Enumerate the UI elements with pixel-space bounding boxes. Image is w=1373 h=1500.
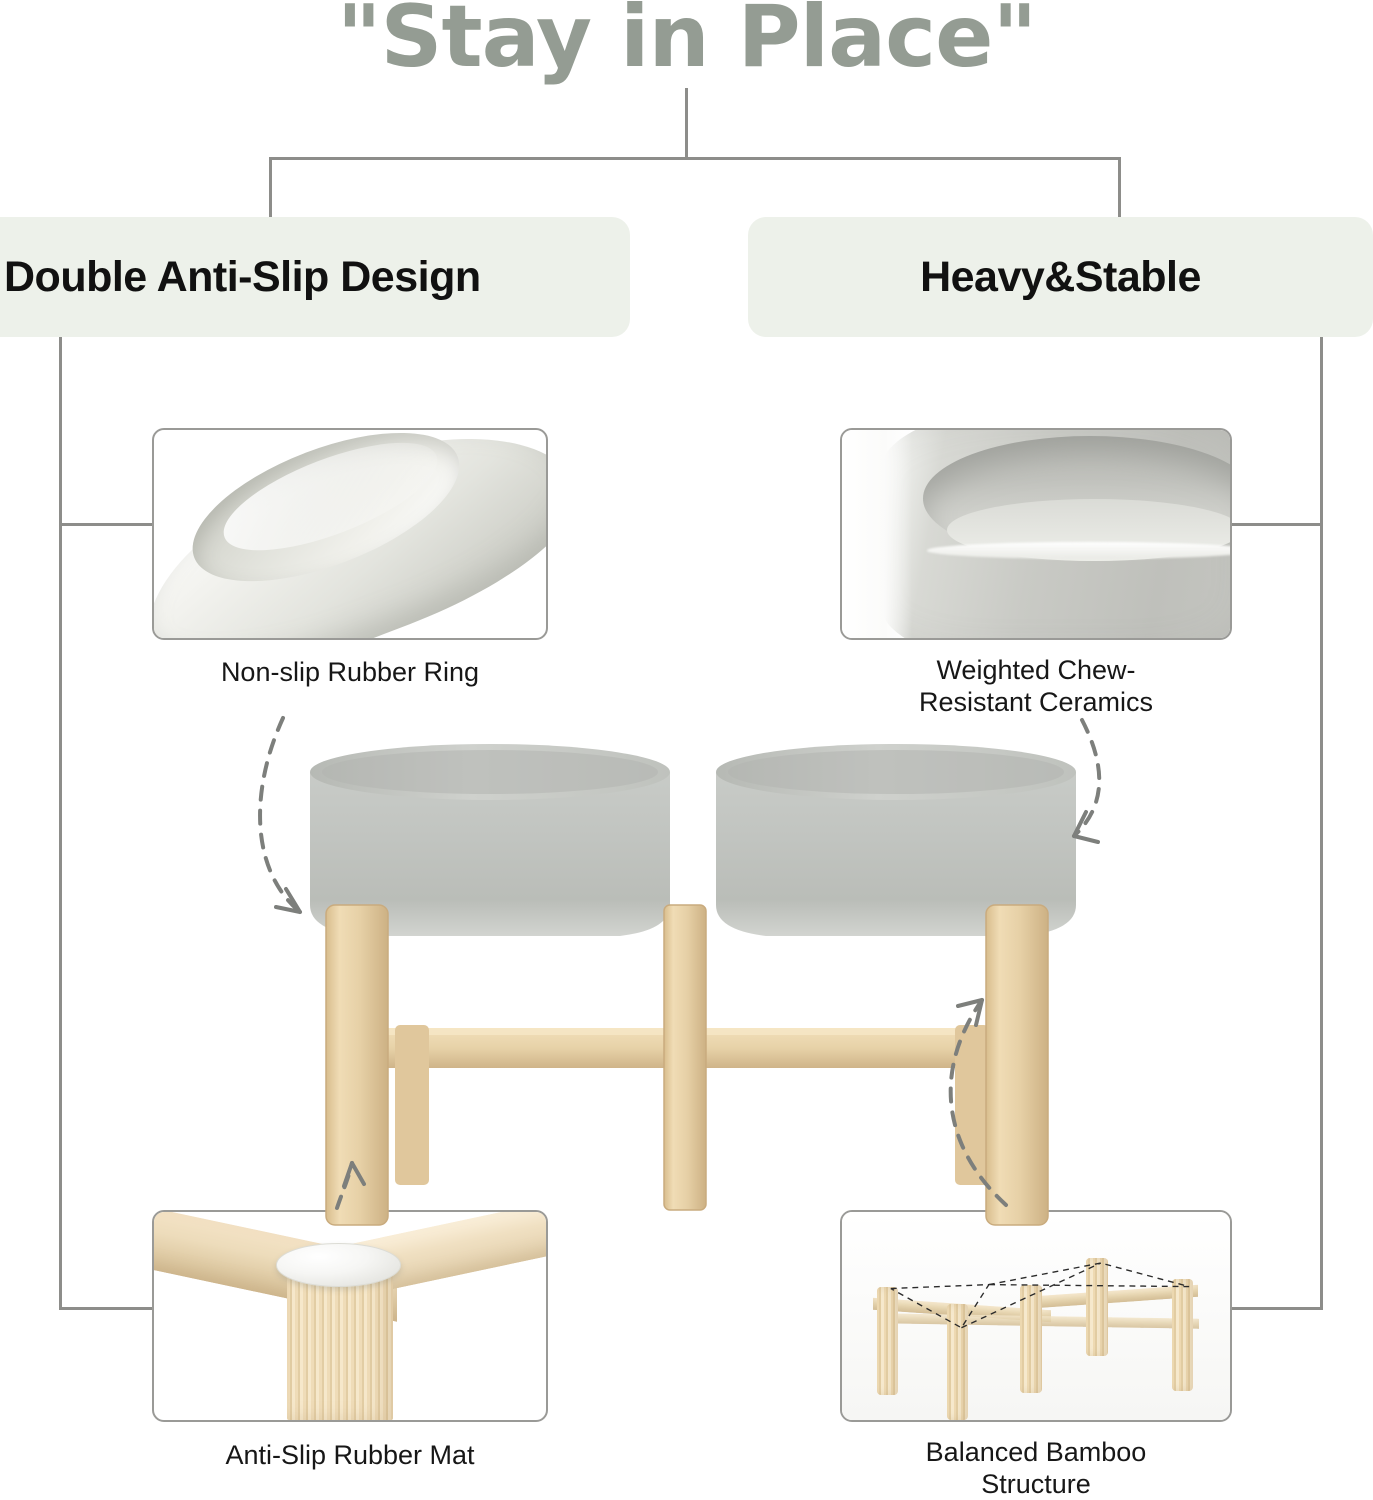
feature-caption-non-slip-rubber-ring: Non-slip Rubber Ring bbox=[152, 657, 548, 689]
feature-caption-weighted-chew-resistant-ceramics: Weighted Chew- Resistant Ceramics bbox=[840, 655, 1232, 719]
category-label-text: Double Anti-Slip Design bbox=[0, 253, 630, 302]
callout-arrow-balanced-bamboo-structure bbox=[951, 1000, 1006, 1205]
category-label-text: Heavy&Stable bbox=[748, 253, 1373, 302]
connector-left-bottom-branch bbox=[59, 1307, 154, 1310]
connector-title-stem bbox=[685, 88, 688, 160]
connector-top-right-drop bbox=[1118, 157, 1121, 219]
connector-right-top-branch bbox=[1228, 523, 1323, 526]
page-title: "Stay in Place" bbox=[0, 0, 1373, 82]
callout-arrow-anti-slip-rubber-mat bbox=[337, 1163, 352, 1208]
connector-top-bar bbox=[269, 157, 1121, 160]
caption-line-2: Resistant Ceramics bbox=[919, 687, 1153, 717]
category-label-heavy-and-stable[interactable]: Heavy&Stable bbox=[748, 217, 1373, 337]
connector-left-spine bbox=[59, 337, 62, 1310]
connector-top-left-drop bbox=[269, 157, 272, 219]
caption-line-1: Weighted Chew- bbox=[936, 655, 1135, 685]
bamboo-structure-photo bbox=[842, 1212, 1230, 1420]
connector-right-spine bbox=[1320, 337, 1323, 1310]
callout-arrow-weighted-ceramics bbox=[1074, 720, 1099, 836]
feature-photo-non-slip-rubber-ring bbox=[152, 428, 548, 640]
connector-right-bottom-branch bbox=[1228, 1307, 1323, 1310]
feature-photo-balanced-bamboo-structure bbox=[840, 1210, 1232, 1422]
feature-caption-anti-slip-rubber-mat: Anti-Slip Rubber Mat bbox=[152, 1440, 548, 1472]
infographic-root: "Stay in Place" Double Anti-Slip Design … bbox=[0, 0, 1373, 1500]
bowl-rim-photo bbox=[154, 430, 546, 638]
feature-photo-anti-slip-rubber-mat bbox=[152, 1210, 548, 1422]
category-label-double-anti-slip-design[interactable]: Double Anti-Slip Design bbox=[0, 217, 630, 337]
weighted-bowl-photo bbox=[842, 430, 1230, 638]
callout-arrow-non-slip-rubber-ring bbox=[260, 718, 300, 912]
connector-left-top-branch bbox=[59, 523, 154, 526]
caption-line-1: Balanced Bamboo bbox=[926, 1437, 1147, 1467]
rubber-mat-photo bbox=[154, 1212, 546, 1420]
caption-line-2: Structure bbox=[981, 1469, 1091, 1499]
feature-caption-balanced-bamboo-structure: Balanced Bamboo Structure bbox=[840, 1437, 1232, 1500]
feature-photo-weighted-chew-resistant-ceramics bbox=[840, 428, 1232, 640]
balance-triangle-overlay bbox=[842, 1212, 1230, 1420]
